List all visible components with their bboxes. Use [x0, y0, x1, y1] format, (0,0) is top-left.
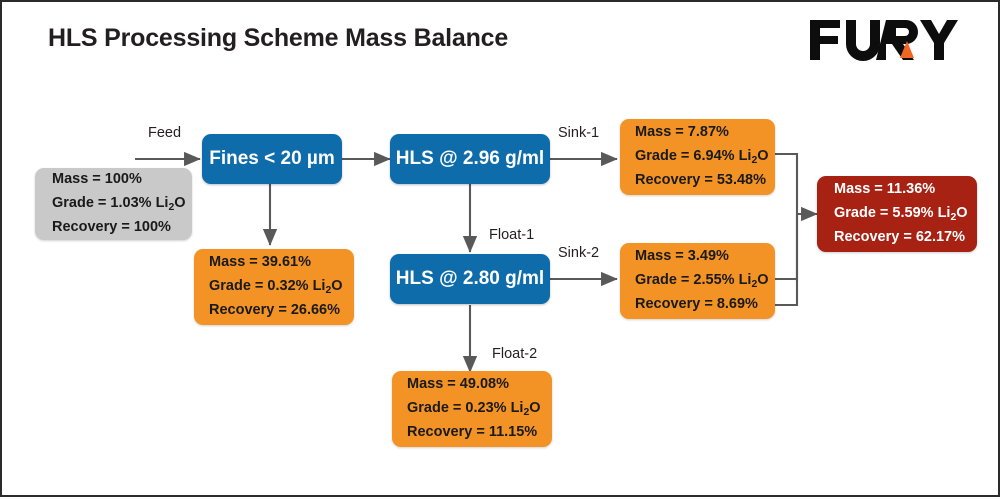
stream-box-combined-product: Mass = 11.36% Grade = 5.59% Li2O Recover… [817, 176, 977, 252]
sink1-recovery: Recovery = 53.48% [635, 169, 775, 192]
stream-box-sink2: Mass = 3.49% Grade = 2.55% Li2O Recovery… [620, 243, 775, 319]
sink1-grade: Grade = 6.94% Li2O [635, 145, 775, 170]
float2-grade: Grade = 0.23% Li2O [407, 397, 552, 422]
process-hls-280-label: HLS @ 2.80 g/ml [396, 268, 544, 290]
feed-recovery: Recovery = 100% [52, 216, 192, 239]
arrow-label-feed: Feed [148, 125, 181, 141]
float2-mass: Mass = 49.08% [407, 373, 552, 396]
process-hls-280[interactable]: HLS @ 2.80 g/ml [390, 254, 550, 304]
feed-grade: Grade = 1.03% Li2O [52, 192, 192, 217]
diagram-canvas: HLS Processing Scheme Mass Balance [0, 0, 1000, 497]
page-title: HLS Processing Scheme Mass Balance [48, 24, 508, 53]
arrow-label-float2: Float-2 [492, 346, 537, 362]
product-mass: Mass = 11.36% [834, 178, 977, 201]
stream-box-fines-reject: Mass = 39.61% Grade = 0.32% Li2O Recover… [194, 249, 354, 325]
stream-box-float2: Mass = 49.08% Grade = 0.23% Li2O Recover… [392, 371, 552, 447]
fines-reject-recovery: Recovery = 26.66% [209, 299, 354, 322]
fines-reject-grade: Grade = 0.32% Li2O [209, 275, 354, 300]
fines-reject-mass: Mass = 39.61% [209, 251, 354, 274]
process-hls-296[interactable]: HLS @ 2.96 g/ml [390, 134, 550, 184]
fury-logo-icon [808, 18, 958, 62]
fury-logo [808, 18, 958, 62]
arrow-label-sink2: Sink-2 [558, 245, 599, 261]
feed-mass: Mass = 100% [52, 168, 192, 191]
arrow-label-sink1: Sink-1 [558, 125, 599, 141]
sink2-grade: Grade = 2.55% Li2O [635, 269, 775, 294]
product-recovery: Recovery = 62.17% [834, 226, 977, 249]
sink2-mass: Mass = 3.49% [635, 245, 775, 268]
float2-recovery: Recovery = 11.15% [407, 421, 552, 444]
stream-box-sink1: Mass = 7.87% Grade = 6.94% Li2O Recovery… [620, 119, 775, 195]
feed-stream-box: Mass = 100% Grade = 1.03% Li2O Recovery … [35, 168, 192, 240]
process-fines-label: Fines < 20 µm [209, 148, 335, 170]
process-fines-screen[interactable]: Fines < 20 µm [202, 134, 342, 184]
arrow-label-float1: Float-1 [489, 227, 534, 243]
sink1-mass: Mass = 7.87% [635, 121, 775, 144]
sink2-recovery: Recovery = 8.69% [635, 293, 775, 316]
product-grade: Grade = 5.59% Li2O [834, 202, 977, 227]
process-hls-296-label: HLS @ 2.96 g/ml [396, 148, 544, 170]
